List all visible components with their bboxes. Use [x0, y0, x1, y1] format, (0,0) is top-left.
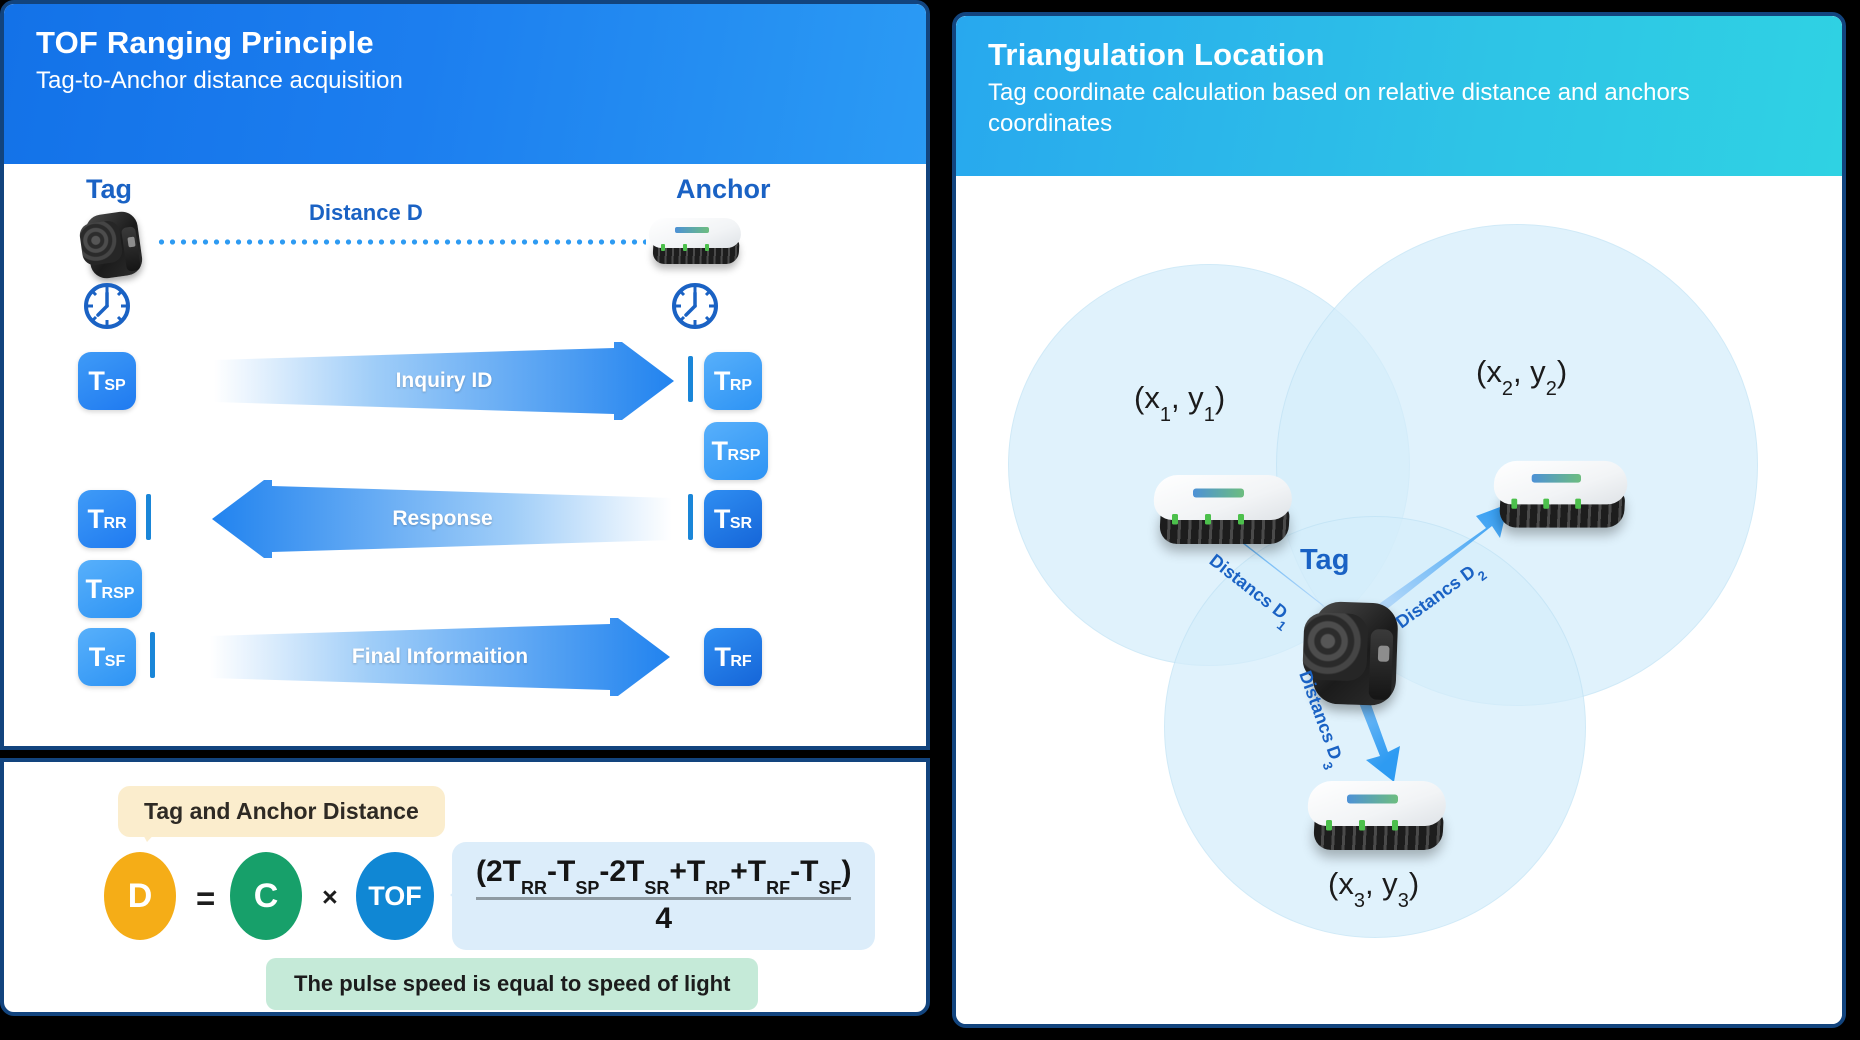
tof-title: TOF Ranging Principle	[36, 26, 894, 60]
chip-sub: RSP	[728, 448, 761, 464]
anchor-device-2	[1494, 458, 1633, 542]
distance-label: Distance D	[309, 200, 423, 226]
anchor-clock-icon	[669, 280, 721, 332]
timestamp-chip-trp: TRP	[704, 352, 762, 410]
formula-equals: =	[196, 880, 215, 918]
chip-sub: SP	[104, 378, 125, 394]
anchor-coord-2: (x2, y2)	[1476, 354, 1567, 395]
chip-base: T	[88, 368, 104, 395]
tick-mark-trr	[146, 494, 151, 540]
chip-base: T	[714, 368, 730, 395]
formula-tof-circle: TOF	[356, 852, 434, 940]
anchor-coord-1: (x1, y1)	[1134, 380, 1225, 421]
triangulation-panel: Triangulation Location Tag coordinate ca…	[952, 12, 1846, 1028]
timestamp-chip-trr: TRR	[78, 490, 136, 548]
triangulation-diagram: Tag (x1, y1) (x2, y2) (x3, y3) Distancs …	[956, 176, 1842, 1028]
message-label-final: Final Informaition	[352, 645, 528, 669]
distance-dotted-line	[156, 239, 646, 245]
tick-mark-tsf	[150, 632, 155, 678]
timestamp-chip-trsp-anchor: TRSP	[704, 422, 768, 480]
formula-d-circle: D	[104, 852, 176, 940]
tag-clock-icon	[81, 280, 133, 332]
chip-sub: RSP	[102, 586, 135, 602]
tag-device-icon	[78, 211, 144, 279]
timestamp-chip-trf: TRF	[704, 628, 762, 686]
anchor-column-heading: Anchor	[676, 174, 771, 205]
formula-numerator: (2TRR-TSP-2TSR+TRP+TRF-TSF)	[476, 854, 851, 893]
tick-mark-tsr	[688, 494, 693, 540]
timestamp-chip-trsp-tag: TRSP	[78, 560, 142, 618]
anchor-coord-3: (x3, y3)	[1328, 866, 1419, 907]
chip-base: T	[87, 506, 103, 533]
chip-sub: SR	[730, 516, 752, 532]
timestamp-chip-tsp: TSP	[78, 352, 136, 410]
tof-ranging-panel: TOF Ranging Principle Tag-to-Anchor dist…	[0, 0, 930, 1016]
formula-expression: (2TRR-TSP-2TSR+TRP+TRF-TSF) 4	[452, 842, 875, 950]
tag-center-label: Tag	[1300, 544, 1349, 577]
chip-sub: SF	[105, 654, 125, 670]
tof-sequence-diagram: Tag Anchor Distance D	[4, 164, 926, 750]
message-arrow-final: Final Informaition	[210, 618, 670, 696]
diagram-root: TOF Ranging Principle Tag-to-Anchor dist…	[0, 0, 1860, 1040]
chip-sub: RR	[103, 516, 126, 532]
tick-mark-trp	[688, 356, 693, 402]
formula-times: ×	[322, 882, 338, 913]
chip-sub: RP	[730, 378, 752, 394]
message-arrow-inquiry: Inquiry ID	[214, 342, 674, 420]
formula-callout: Tag and Anchor Distance	[118, 786, 445, 837]
chip-base: T	[714, 506, 730, 533]
distance-formula-card: Tag and Anchor Distance D = C × TOF (2TR…	[0, 758, 930, 1016]
chip-sub: RF	[730, 654, 751, 670]
chip-base: T	[712, 438, 728, 465]
timestamp-chip-tsr: TSR	[704, 490, 762, 548]
triangulation-title: Triangulation Location	[988, 38, 1810, 72]
message-label-inquiry: Inquiry ID	[396, 369, 493, 393]
formula-denominator: 4	[476, 902, 851, 936]
tag-column-heading: Tag	[86, 174, 132, 205]
tof-header: TOF Ranging Principle Tag-to-Anchor dist…	[4, 4, 926, 164]
chip-base: T	[86, 576, 102, 603]
anchor-device-1	[1154, 472, 1298, 559]
tof-subtitle: Tag-to-Anchor distance acquisition	[36, 66, 816, 97]
message-label-response: Response	[392, 507, 492, 531]
formula-c-circle: C	[230, 852, 302, 940]
tof-sequence-card: TOF Ranging Principle Tag-to-Anchor dist…	[0, 0, 930, 750]
anchor-device-icon	[649, 216, 745, 274]
anchor-device-3	[1308, 778, 1452, 865]
message-arrow-response: Response	[162, 480, 672, 558]
triangulation-header: Triangulation Location Tag coordinate ca…	[956, 16, 1842, 176]
chip-base: T	[89, 644, 105, 671]
timestamp-chip-tsf: TSF	[78, 628, 136, 686]
chip-base: T	[714, 644, 730, 671]
triangulation-subtitle: Tag coordinate calculation based on rela…	[988, 78, 1768, 139]
formula-note: The pulse speed is equal to speed of lig…	[266, 958, 758, 1010]
